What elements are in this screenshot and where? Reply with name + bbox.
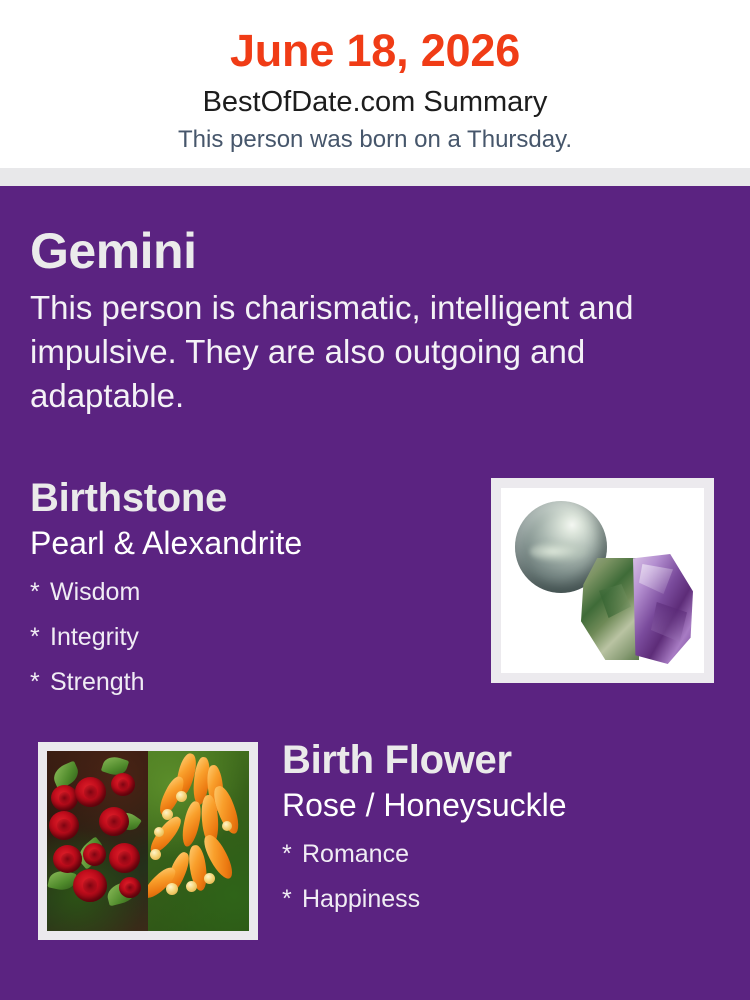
- birth-flower-trait-label: Romance: [302, 840, 409, 868]
- bullet-star-icon: *: [30, 570, 50, 615]
- birthstone-trait-label: Integrity: [50, 623, 139, 651]
- list-item: *Integrity: [30, 615, 470, 660]
- birth-flower-image: [47, 751, 249, 931]
- list-item: *Happiness: [282, 877, 722, 922]
- birth-flower-names: Rose / Honeysuckle: [282, 785, 722, 825]
- zodiac-section: Gemini This person is charismatic, intel…: [30, 222, 720, 418]
- birth-flower-title: Birth Flower: [282, 736, 722, 784]
- site-summary-label: BestOfDate.com Summary: [0, 82, 750, 122]
- weekday-note: This person was born on a Thursday.: [0, 123, 750, 156]
- rose-icon: [51, 785, 78, 811]
- birth-flower-trait-label: Happiness: [302, 885, 420, 913]
- alexandrite-icon: [581, 554, 693, 664]
- honeysuckle-bud-icon: [150, 849, 161, 860]
- birth-flower-section: Birth Flower Rose / Honeysuckle *Romance…: [282, 736, 722, 922]
- bullet-star-icon: *: [282, 832, 302, 877]
- roses-photo-half: [47, 751, 148, 931]
- birthstone-trait-label: Wisdom: [50, 578, 140, 606]
- birthstone-trait-list: *Wisdom *Integrity *Strength: [30, 570, 470, 705]
- birthstone-title: Birthstone: [30, 474, 470, 522]
- honeysuckle-bud-icon: [162, 809, 173, 820]
- birthstone-image-frame: [491, 478, 714, 683]
- honeysuckle-bud-icon: [204, 873, 215, 884]
- honeysuckle-bud-icon: [222, 821, 232, 831]
- birth-flower-image-frame: [38, 742, 258, 940]
- birthstone-image: [501, 488, 704, 673]
- birthstone-trait-label: Strength: [50, 668, 145, 696]
- birthstone-section: Birthstone Pearl & Alexandrite *Wisdom *…: [30, 474, 470, 705]
- bullet-star-icon: *: [30, 615, 50, 660]
- birthstone-names: Pearl & Alexandrite: [30, 523, 470, 563]
- honeysuckle-photo-half: [148, 751, 249, 931]
- honeysuckle-bud-icon: [154, 827, 164, 837]
- bullet-star-icon: *: [282, 877, 302, 922]
- header: June 18, 2026 BestOfDate.com Summary Thi…: [0, 0, 750, 168]
- bullet-star-icon: *: [30, 660, 50, 705]
- honeysuckle-bud-icon: [186, 881, 197, 892]
- rose-icon: [111, 773, 135, 796]
- rose-icon: [75, 777, 106, 807]
- rose-icon: [49, 811, 79, 840]
- list-item: *Romance: [282, 832, 722, 877]
- list-item: *Wisdom: [30, 570, 470, 615]
- page-title-date: June 18, 2026: [0, 22, 750, 80]
- rose-icon: [119, 877, 141, 898]
- rose-icon: [83, 843, 106, 866]
- list-item: *Strength: [30, 660, 470, 705]
- header-divider: [0, 168, 750, 186]
- date-summary-infographic: June 18, 2026 BestOfDate.com Summary Thi…: [0, 0, 750, 1000]
- honeysuckle-bud-icon: [166, 883, 178, 895]
- honeysuckle-bud-icon: [176, 791, 187, 802]
- birth-flower-trait-list: *Romance *Happiness: [282, 832, 722, 922]
- rose-icon: [53, 845, 82, 873]
- zodiac-description: This person is charismatic, intelligent …: [30, 286, 698, 418]
- rose-icon: [109, 843, 140, 873]
- zodiac-sign-title: Gemini: [30, 222, 720, 280]
- rose-icon: [73, 869, 107, 902]
- rose-icon: [99, 807, 129, 836]
- honeysuckle-tube-icon: [179, 800, 203, 848]
